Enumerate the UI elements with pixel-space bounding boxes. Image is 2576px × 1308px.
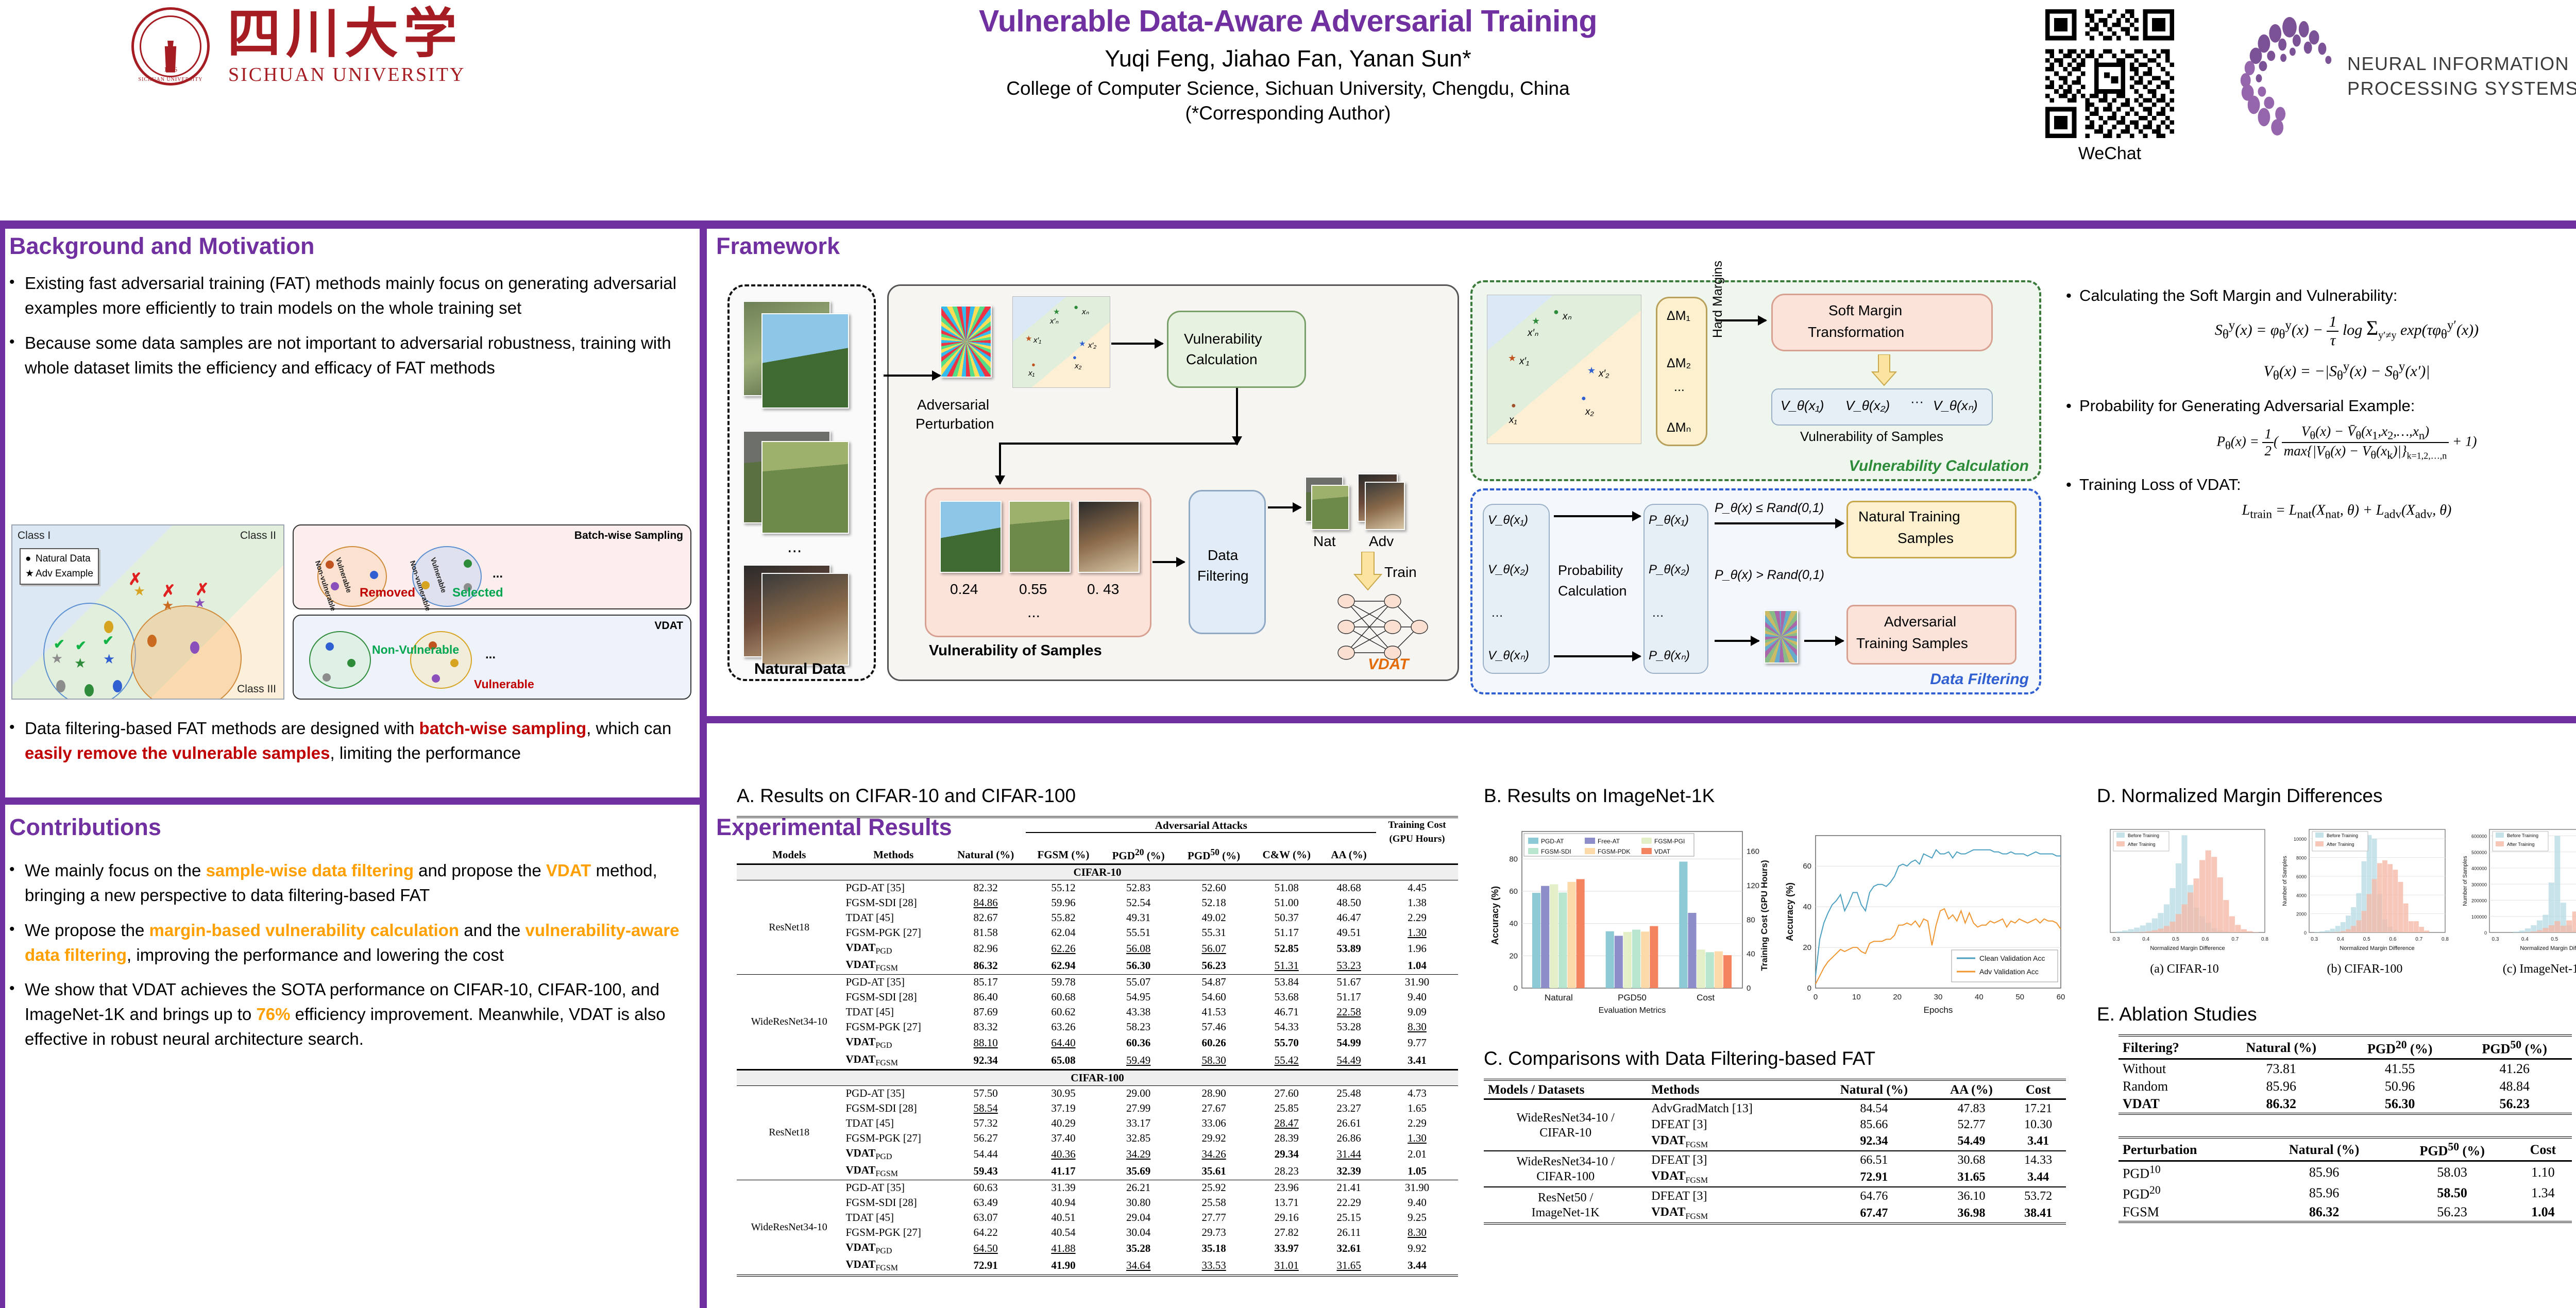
sample-thumb <box>1078 501 1140 573</box>
margin-histogram-cifar100: 02000400060008000100000.30.40.50.60.70.8… <box>2277 821 2452 960</box>
adv-label: Adv <box>1369 533 1394 550</box>
author-list: Yuqi Feng, Jiahao Fan, Yanan Sun* <box>752 45 1824 73</box>
natural-data-point <box>147 635 157 647</box>
neurips-swirl-icon <box>2236 17 2339 135</box>
adv-star-icon: ★ <box>133 583 145 599</box>
heading-results-C: C. Comparisons with Data Filtering-based… <box>1484 1048 2092 1069</box>
svg-text:Epochs: Epochs <box>1924 1005 1953 1015</box>
soft-margin-line2: Transformation <box>1808 324 1904 341</box>
equation-vulnerability: Vθ(x) = −|Sθy(x) − Sθy(x′)| <box>2066 360 2576 383</box>
adv-example-star-icon: ★ <box>25 567 36 582</box>
arrow-to-soft-margin <box>1716 319 1766 321</box>
svg-text:PGD50: PGD50 <box>1618 993 1647 1003</box>
framework-diagram: ... Natural Data Adversarial Perturbatio… <box>727 280 2046 708</box>
svg-text:0.4: 0.4 <box>2521 937 2529 942</box>
adv-star-icon: ★ <box>194 595 206 611</box>
connector-line <box>999 443 1237 445</box>
sample-dot <box>450 659 459 667</box>
svg-text:Evaluation Metrics: Evaluation Metrics <box>1599 1006 1666 1015</box>
down-arrow-icon <box>1870 354 1898 386</box>
svg-text:20: 20 <box>1803 943 1811 952</box>
natural-point-icon: ● <box>1073 353 1077 361</box>
margin-histogram-cifar10: 0.30.40.50.60.70.8Normalized Margin Diff… <box>2097 821 2272 960</box>
svg-text:0.4: 0.4 <box>2142 937 2149 942</box>
qr-block: WeChat <box>2040 9 2179 164</box>
svg-text:60: 60 <box>1509 887 1518 896</box>
adv-training-line2: Training Samples <box>1856 635 1968 652</box>
svg-text:Natural: Natural <box>1545 993 1573 1003</box>
svg-text:PGD-AT: PGD-AT <box>1541 838 1564 845</box>
svg-text:VDAT: VDAT <box>1654 848 1671 855</box>
bullet-dot-icon: • <box>9 271 25 320</box>
bullet-text: Existing fast adversarial training (FAT)… <box>25 271 694 320</box>
train-arrow-icon <box>1352 552 1383 591</box>
highlight-easily-remove: easily remove the vulnerable samples <box>25 743 330 762</box>
vuln-calc-line2: Calculation <box>1186 351 1258 368</box>
results-panel-E: E. Ablation Studies Filtering?Natural (%… <box>2097 1004 2576 1224</box>
svg-text:Clean Validation Acc: Clean Validation Acc <box>1979 954 2045 962</box>
vuln-of-samples-caption: Vulnerability of Samples <box>1800 429 1943 445</box>
vulnerable-label: Vulnerable <box>474 677 534 691</box>
bullet-dot-icon: • <box>2066 397 2079 415</box>
equation-soft-margin: Sθy(x) = φθy(x) − 1τ log Σy′≠y exp(τφθy′… <box>2066 313 2576 349</box>
arrow-prob-top <box>1554 515 1640 517</box>
caption-cifar100: (b) CIFAR-100 <box>2277 962 2452 976</box>
svg-text:0.8: 0.8 <box>2442 937 2449 942</box>
equation-training-loss: Ltrain = Lnat(Xnat, θ) + Ladv(Xadv, θ) <box>2066 502 2576 522</box>
table-ablation-filtering: Filtering?Natural (%)PGD20 (%)PGD50 (%)W… <box>2119 1034 2572 1116</box>
v-theta-x2: V_θ(x₂) <box>1845 398 1890 414</box>
margin-scatter-panel: ● ★ xₙ x′ₙ ★ x′₁ ★ x′₂ ● x₁ ● x₂ <box>1487 295 1641 444</box>
decision-boundary-illustration: Class I Class II Class III ●Natural Data… <box>11 524 284 700</box>
delta-m1: ΔM₁ <box>1667 309 1690 324</box>
delta-m2: ΔM₂ <box>1667 356 1691 371</box>
svg-text:FGSM-PGI: FGSM-PGI <box>1654 838 1685 845</box>
svg-text:Accuracy (%): Accuracy (%) <box>1490 886 1500 945</box>
natural-point-icon: ● <box>1553 307 1559 317</box>
data-filtering-panel: V_θ(x₁) V_θ(x₂) … V_θ(xₙ) Probability Ca… <box>1470 488 2041 694</box>
adv-star-icon: ★ <box>162 598 174 614</box>
svg-text:600000: 600000 <box>2471 834 2487 839</box>
background-bullet-3: • Data filtering-based FAT methods are d… <box>9 716 694 776</box>
natural-point-icon: ● <box>1511 401 1516 411</box>
v-theta-x2: V_θ(x₂) <box>1488 563 1529 577</box>
vulnerability-calculation-panel: ● ★ xₙ x′ₙ ★ x′₁ ★ x′₂ ● x₁ ● x₂ ΔM₁ ΔM₂… <box>1470 280 2041 481</box>
x2-label: x₂ <box>1075 362 1081 370</box>
bullet-mid: and the <box>459 921 525 940</box>
sample-dot <box>326 560 334 569</box>
adversarial-perturbation-label-line2: Perturbation <box>916 416 994 432</box>
natural-point-icon: ● <box>1074 303 1078 312</box>
neurips-line-2: PROCESSING SYSTEMS <box>2347 76 2576 101</box>
arrow-prob-bottom <box>1554 655 1640 657</box>
vdat-title: VDAT <box>654 620 683 632</box>
heading-results-B: B. Results on ImageNet-1K <box>1484 785 2092 807</box>
data-filtering-node: Data Filtering <box>1189 490 1266 634</box>
bullet-dot-icon: • <box>9 918 25 967</box>
ellipsis-label: … <box>1652 606 1664 620</box>
natural-data-dot-icon: ● <box>25 552 36 567</box>
bullet-item: • Data filtering-based FAT methods are d… <box>9 716 694 766</box>
method-bullet-2: • Probability for Generating Adversarial… <box>2066 397 2576 415</box>
svg-text:80: 80 <box>1747 915 1755 924</box>
removed-label: Removed <box>360 586 415 600</box>
bullet-item: • We mainly focus on the sample-wise dat… <box>9 858 694 908</box>
neurips-logo: NEURAL INFORMATION PROCESSING SYSTEMS <box>2236 9 2576 143</box>
svg-text:0: 0 <box>1814 993 1818 1001</box>
highlight-efficiency-percent: 76% <box>256 1005 290 1024</box>
natural-data-point <box>190 641 199 654</box>
arrow-to-outputs <box>1268 506 1301 508</box>
ellipsis-label: ··· <box>1910 394 1924 410</box>
vuln-samples-caption: Vulnerability of Samples <box>929 642 1102 659</box>
scu-chinese-name: 四川大学 <box>227 7 465 60</box>
highlight-sample-wise-filtering: sample-wise data filtering <box>206 861 414 880</box>
vdat-card: VDAT Non-Vulnerable ... Vulnerable <box>293 615 691 700</box>
perturbed-scatter-panel: ● ★ xₙ x′ₙ ★ x′₁ ★ x′₂ ● x₁ ● x₂ <box>1012 296 1110 388</box>
highlight-vdat: VDAT <box>546 861 591 880</box>
svg-text:Number of Samples: Number of Samples <box>2462 856 2468 906</box>
svg-text:0.3: 0.3 <box>2311 937 2318 942</box>
scu-english-name: SICHUAN UNIVERSITY <box>228 63 465 86</box>
xn-label: xₙ <box>1082 307 1089 316</box>
svg-text:100000: 100000 <box>2471 914 2487 920</box>
bullet-post: , limiting the performance <box>330 743 521 762</box>
ellipsis-label: … <box>1491 606 1503 620</box>
table-cifar-results: Adversarial AttacksTraining Cost(GPU Hou… <box>737 816 1458 1278</box>
figure-legend: ●Natural Data ★Adv Example <box>20 548 99 585</box>
bullet-mid: efficiency improvement. Meanwhile, VDAT <box>291 1005 618 1024</box>
svg-text:4000: 4000 <box>2296 893 2307 898</box>
background-bullets: • Existing fast adversarial training (FA… <box>9 271 694 380</box>
sample-thumb <box>940 501 1002 573</box>
vdat-tag: VDAT <box>1368 656 1409 673</box>
adv-output-thumb <box>1365 482 1405 530</box>
table-data-filtering-comparison: Models / DatasetsMethodsNatural (%)AA (%… <box>1484 1079 2066 1226</box>
x2-prime-label: x′₂ <box>1599 368 1609 380</box>
svg-text:0.7: 0.7 <box>2415 937 2422 942</box>
natural-data-group: ... Natural Data <box>727 284 876 681</box>
x1-label: x₁ <box>1028 369 1035 378</box>
bullet-dot-icon: • <box>9 977 25 1051</box>
divider-vertical-left <box>700 229 707 1308</box>
svg-text:60: 60 <box>1803 862 1811 871</box>
svg-text:After Training: After Training <box>2128 842 2156 847</box>
prob-calc-line2: Calculation <box>1558 583 1627 599</box>
svg-text:40: 40 <box>1747 950 1755 959</box>
svg-text:40: 40 <box>1975 993 1984 1001</box>
natural-point-icon: ● <box>1031 361 1036 368</box>
section-title-background: Background and Motivation <box>9 233 694 260</box>
hard-margins-list: ΔM₁ ΔM₂ ... ΔMₙ <box>1656 297 1707 446</box>
svg-text:0.5: 0.5 <box>2551 937 2558 942</box>
equation-probability: Pθ(x) = 12( Vθ(x) − V̄θ(x1,x2,…,xn) max{… <box>2066 423 2576 462</box>
svg-text:20: 20 <box>1509 952 1518 960</box>
svg-text:0.4: 0.4 <box>2337 937 2344 942</box>
natural-point-icon: ● <box>1581 394 1586 403</box>
arrow-to-data-filtering <box>1153 561 1184 563</box>
heading-results-E: E. Ablation Studies <box>2097 1004 2576 1025</box>
arrow-to-vuln-calc <box>1111 343 1163 345</box>
ellipsis-label: ... <box>787 537 802 557</box>
soft-margin-transformation-node: Soft Margin Transformation <box>1771 294 1993 351</box>
bullet-post: , improving the performance and lowering… <box>127 945 504 964</box>
framework-main-box: Adversarial Perturbation ● ★ xₙ x′ₙ ★ x′… <box>887 284 1459 681</box>
svg-text:20: 20 <box>1893 993 1902 1001</box>
caption-cifar10: (a) CIFAR-10 <box>2097 962 2272 976</box>
adv-star-icon: ★ <box>74 655 86 671</box>
xn-prime-label: x′ₙ <box>1528 327 1538 339</box>
natural-training-samples-node: Natural Training Samples <box>1846 501 2016 558</box>
data-filtering-line1: Data <box>1208 547 1238 564</box>
contribution-bullets: • We mainly focus on the sample-wise dat… <box>9 858 694 1051</box>
x1-prime-label: x′₁ <box>1033 336 1041 345</box>
vulnerability-of-samples-box: 0.24 0.55 0. 43 ... <box>925 488 1151 637</box>
sample-dot <box>421 581 430 589</box>
results-panel-C: C. Comparisons with Data Filtering-based… <box>1484 1048 2092 1226</box>
non-vulnerable-group-ellipse <box>309 631 371 689</box>
method-bullet-1-text: Calculating the Soft Margin and Vulnerab… <box>2079 286 2397 305</box>
results-panel-D: D. Normalized Margin Differences 0.30.40… <box>2097 785 2576 807</box>
x1-prime-label: x′₁ <box>1519 356 1529 367</box>
p-theta-x1: P_θ(x₁) <box>1649 513 1689 528</box>
section-title-framework: Framework <box>716 233 2045 260</box>
qr-label: WeChat <box>2040 144 2179 164</box>
x1-label: x₁ <box>1509 415 1517 426</box>
batch-wise-sampling-card: Batch-wise Sampling Non-vulnerable Vulne… <box>293 524 691 609</box>
delta-mn: ΔMₙ <box>1667 420 1691 435</box>
svg-text:6000: 6000 <box>2296 874 2307 879</box>
wechat-qr-code-icon[interactable] <box>2045 9 2174 138</box>
svg-text:300000: 300000 <box>2471 882 2487 887</box>
sample-dot <box>323 673 331 682</box>
scu-seal-arc-text: SICHUAN UNIVERSITY <box>134 77 207 82</box>
section-title-contributions: Contributions <box>9 814 694 841</box>
adversarial-training-samples-node: Adversarial Training Samples <box>1846 605 2016 665</box>
method-bullet-1: • Calculating the Soft Margin and Vulner… <box>2066 286 2576 305</box>
vuln-calc-line1: Vulnerability <box>1184 331 1262 347</box>
score-value: 0.24 <box>950 581 978 598</box>
p-theta-xn: P_θ(xₙ) <box>1649 648 1690 663</box>
poster-header: 1896 SICHUAN UNIVERSITY 四川大学 SICHUAN UNI… <box>0 0 2576 220</box>
natural-image-thumb <box>761 441 849 534</box>
svg-text:40: 40 <box>1509 920 1518 928</box>
svg-text:120: 120 <box>1747 881 1759 890</box>
svg-text:8000: 8000 <box>2296 856 2307 861</box>
motivation-figure: Class I Class II Class III ●Natural Data… <box>11 524 691 700</box>
svg-text:Training Cost (GPU Hours): Training Cost (GPU Hours) <box>1759 860 1769 971</box>
svg-text:0.8: 0.8 <box>2261 937 2268 942</box>
class-1-label: Class I <box>18 530 50 542</box>
adv-star-icon: ★ <box>1053 307 1060 316</box>
sample-dot <box>347 659 355 667</box>
sample-dot <box>464 559 472 568</box>
bullet-dot-icon: • <box>9 331 25 380</box>
sichuan-university-logo: 1896 SICHUAN UNIVERSITY 四川大学 SICHUAN UNI… <box>131 5 647 88</box>
p-values-column: P_θ(x₁) P_θ(x₂) … P_θ(xₙ) <box>1643 504 1708 674</box>
bullet-text: Because some data samples are not import… <box>25 331 694 380</box>
nat-output-thumb <box>1311 485 1349 530</box>
scu-seal-icon: 1896 SICHUAN UNIVERSITY <box>131 7 210 86</box>
divider-header <box>0 220 2576 229</box>
bullet-mid: and propose the <box>414 861 546 880</box>
sample-thumb <box>1009 501 1071 573</box>
arrow-down-to-vuln-samples <box>999 443 1001 484</box>
svg-text:Before Training: Before Training <box>2128 833 2159 838</box>
svg-text:200000: 200000 <box>2471 898 2487 904</box>
svg-text:Before Training: Before Training <box>2327 833 2358 838</box>
svg-text:Adv Validation Acc: Adv Validation Acc <box>1979 967 2039 976</box>
batch-wise-sampling-title: Batch-wise Sampling <box>574 530 683 542</box>
v-values-column: V_θ(x₁) V_θ(x₂) … V_θ(xₙ) <box>1483 504 1550 674</box>
svg-text:0.5: 0.5 <box>2363 937 2370 942</box>
page-title: Vulnerable Data-Aware Adversarial Traini… <box>752 4 1824 39</box>
table-ablation-perturbation: PerturbationNatural (%)PGD50 (%)CostPGD1… <box>2119 1136 2572 1224</box>
adv-star-icon: ★ <box>1079 339 1086 348</box>
results-panel-B: B. Results on ImageNet-1K 02040608004080… <box>1484 785 2092 807</box>
arrow-to-adv-samples <box>1804 640 1843 642</box>
bullet-pre: Data filtering-based FAT methods are des… <box>25 719 419 738</box>
neurips-line-1: NEURAL INFORMATION <box>2347 52 2576 76</box>
natural-data-point <box>104 621 113 633</box>
xn-prime-label: x′ₙ <box>1050 316 1058 326</box>
affiliation: College of Computer Science, Sichuan Uni… <box>752 77 1824 100</box>
xn-label: xₙ <box>1563 311 1571 322</box>
arrow-to-noise <box>1715 640 1759 642</box>
caption-imagenet: (c) ImageNet-1K <box>2458 962 2576 976</box>
svg-text:40: 40 <box>1803 903 1811 911</box>
vulnerability-calculation-node: Vulnerability Calculation <box>1167 311 1306 388</box>
method-bullet-3: • Training Loss of VDAT: <box>2066 475 2576 494</box>
highlight-margin-based-vulnerability: margin-based vulnerability calculation <box>149 921 460 940</box>
class-2-label: Class II <box>240 530 276 542</box>
svg-text:80: 80 <box>1509 855 1518 863</box>
vulnerable-group-ellipse <box>410 631 472 689</box>
condition-le: P_θ(x) ≤ Rand(0,1) <box>1715 501 1824 516</box>
ellipsis-label: ... <box>485 648 496 662</box>
method-bullet-2-text: Probability for Generating Adversarial E… <box>2079 397 2415 415</box>
svg-text:Cost: Cost <box>1697 993 1715 1003</box>
divider-results <box>706 716 2576 723</box>
svg-text:50: 50 <box>2015 993 2024 1001</box>
svg-text:Free-AT: Free-AT <box>1598 838 1620 845</box>
x2-label: x₂ <box>1585 406 1594 418</box>
heading-results-D: D. Normalized Margin Differences <box>2097 785 2576 807</box>
svg-text:Number of Samples: Number of Samples <box>2282 856 2288 906</box>
bullet-dot-icon: • <box>9 716 25 766</box>
v-theta-x1: V_θ(x₁) <box>1781 398 1824 414</box>
x2-prime-label: x′₂ <box>1088 341 1096 350</box>
svg-text:Accuracy (%): Accuracy (%) <box>1785 882 1795 941</box>
svg-text:Normalized Margin Difference: Normalized Margin Difference <box>2150 945 2225 952</box>
perturbation-noise-thumb <box>1764 610 1798 664</box>
legend-adv-label: Adv Example <box>36 568 93 579</box>
svg-text:0: 0 <box>1514 984 1518 993</box>
panel-filter-title: Data Filtering <box>1930 671 2029 688</box>
svg-text:0.6: 0.6 <box>2389 937 2397 942</box>
bullet-mid: , which can <box>586 719 671 738</box>
adv-star-icon: ★ <box>103 651 115 667</box>
non-vulnerable-label: Non-Vulnerable <box>372 642 459 657</box>
title-block: Vulnerable Data-Aware Adversarial Traini… <box>752 4 1824 124</box>
v-theta-xn: V_θ(xₙ) <box>1488 648 1529 663</box>
v-theta-x1: V_θ(x₁) <box>1488 513 1528 528</box>
svg-text:160: 160 <box>1747 847 1759 856</box>
margin-histogram-imagenet: 01000002000003000004000005000006000000.3… <box>2458 821 2576 960</box>
vulnerability-values-row: V_θ(x₁) V_θ(x₂) ··· V_θ(xₙ) <box>1771 388 1993 426</box>
svg-text:0.7: 0.7 <box>2231 937 2239 942</box>
v-theta-xn: V_θ(xₙ) <box>1933 398 1978 414</box>
legend-natural-label: Natural Data <box>36 553 91 564</box>
svg-text:0: 0 <box>1747 984 1751 993</box>
check-mark-icon: ✔ <box>54 636 65 652</box>
check-mark-icon: ✔ <box>103 633 114 649</box>
divider-vertical-edge <box>0 229 5 1308</box>
adv-star-icon: ★ <box>1025 334 1032 343</box>
section-method-equations: • Calculating the Soft Margin and Vulner… <box>2066 233 2576 717</box>
natural-image-thumb <box>761 573 849 666</box>
heading-results-A: A. Results on CIFAR-10 and CIFAR-100 <box>737 785 1468 807</box>
natural-data-label: Natural Data <box>754 660 845 678</box>
svg-text:10: 10 <box>1852 993 1861 1001</box>
adv-star-icon: ★ <box>51 651 63 667</box>
svg-text:FGSM-SDI: FGSM-SDI <box>1541 848 1571 855</box>
svg-text:2000: 2000 <box>2296 912 2307 917</box>
section-contributions: Contributions • We mainly focus on the s… <box>9 814 694 1298</box>
imagenet-bar-chart: 02040608004080120160NaturalPGD50CostEval… <box>1489 818 1777 1024</box>
data-filtering-line2: Filtering <box>1197 568 1249 584</box>
hard-margins-label: Hard Margins <box>1710 245 1725 338</box>
svg-text:FGSM-PDK: FGSM-PDK <box>1598 848 1630 855</box>
svg-text:After Training: After Training <box>2507 842 2535 847</box>
adv-training-line1: Adversarial <box>1884 614 1956 630</box>
adv-star-icon: ★ <box>1532 316 1540 327</box>
svg-text:60: 60 <box>2057 993 2065 1001</box>
p-theta-x2: P_θ(x₂) <box>1649 563 1690 577</box>
scu-founding-year: 1896 <box>134 65 207 74</box>
natural-data-point <box>84 684 94 697</box>
svg-text:400000: 400000 <box>2471 866 2487 871</box>
svg-text:0.3: 0.3 <box>2113 937 2120 942</box>
bullet-item: • Because some data samples are not impo… <box>9 331 694 380</box>
svg-text:0: 0 <box>2304 930 2307 936</box>
svg-text:After Training: After Training <box>2327 842 2354 847</box>
svg-text:0.6: 0.6 <box>2202 937 2209 942</box>
score-value: 0. 43 <box>1087 581 1119 598</box>
bullet-item: • We propose the margin-based vulnerabil… <box>9 918 694 967</box>
bullet-dot-icon: • <box>2066 475 2079 494</box>
natural-training-line1: Natural Training <box>1858 508 1960 525</box>
arrow-to-natural-samples <box>1715 522 1843 524</box>
results-panel-A: A. Results on CIFAR-10 and CIFAR-100 Adv… <box>737 785 1468 1278</box>
sample-dot <box>326 642 334 651</box>
check-mark-icon: ✔ <box>75 638 87 654</box>
class-3-label: Class III <box>237 683 276 695</box>
arrow-input <box>884 375 940 377</box>
panel-vuln-title: Vulnerability Calculation <box>1849 457 2029 475</box>
ellipsis-label: ... <box>1027 604 1040 621</box>
svg-text:10000: 10000 <box>2294 837 2307 842</box>
svg-text:0.3: 0.3 <box>2492 937 2499 942</box>
soft-margin-line1: Soft Margin <box>1828 302 1902 319</box>
highlight-batchwise-sampling: batch-wise sampling <box>419 719 587 738</box>
svg-text:Normalized Margin Difference: Normalized Margin Difference <box>2340 945 2414 952</box>
sample-dot <box>331 582 339 590</box>
adversarial-perturbation-label-line1: Adversarial <box>917 397 989 413</box>
bullet-item: • We show that VDAT achieves the SOTA pe… <box>9 977 694 1051</box>
bullet-item: • Existing fast adversarial training (FA… <box>9 271 694 320</box>
svg-text:0: 0 <box>1807 984 1811 993</box>
